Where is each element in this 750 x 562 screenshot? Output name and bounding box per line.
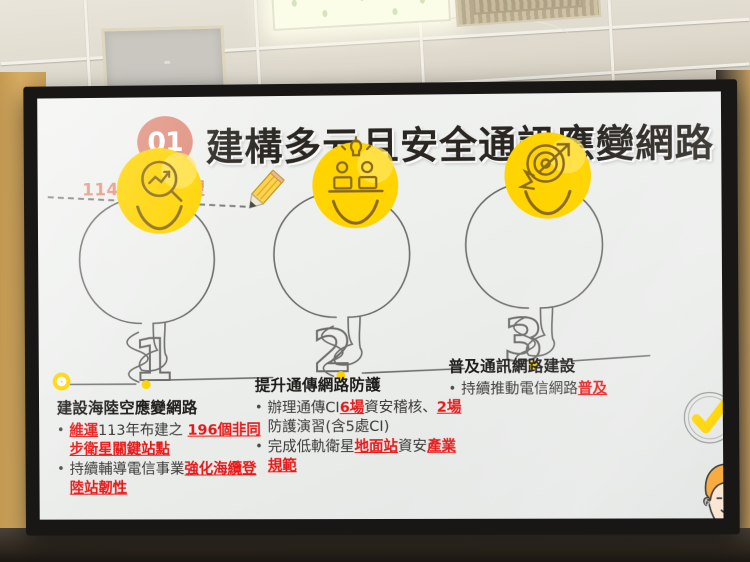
- step-heading-2: 提升通傳網路防護: [255, 373, 470, 396]
- bullet-text: 完成低軌衛星地面站資安產業規範: [268, 438, 470, 477]
- display-screen-bezel: 01 建構多元且安全通訊應變網路 114年施政展望: [23, 79, 740, 535]
- step-heading-3: 普及通訊網路建設: [448, 354, 665, 377]
- bullet-text: 維運113年布建之 196個非同步衛星關鍵站點: [69, 421, 270, 460]
- bulb-glow-1: [92, 128, 232, 269]
- bullet-dot: •: [449, 381, 457, 400]
- wall-speaker: [101, 25, 226, 90]
- bullet-text: 辦理通傳CI6場資安稽核、2場防護演習(含5處CI): [268, 399, 470, 438]
- bullet-dot: •: [57, 461, 65, 499]
- presentation-screen: 01 建構多元且安全通訊應變網路 114年施政展望: [37, 91, 723, 519]
- bullet-dot: •: [255, 439, 263, 477]
- bulb-glow-2: [287, 123, 428, 264]
- list-item: • 完成低軌衛星地面站資安產業規範: [255, 438, 470, 477]
- page-number: 6: [704, 497, 711, 508]
- step-column-1: 建設海陸空應變網路 • 維運113年布建之 196個非同步衛星關鍵站點 • 持續…: [57, 395, 271, 500]
- line-node-1: [142, 380, 151, 389]
- list-item: • 持續輔導電信事業強化海纜登陸站韌性: [57, 461, 270, 500]
- businessman-with-phone-illustration: [663, 452, 723, 520]
- step-bullets-2: • 辦理通傳CI6場資安稽核、2場防護演習(含5處CI) • 完成低軌衛星地面站…: [255, 399, 470, 477]
- step-bullets-3: • 持續推動電信網路普及: [449, 380, 666, 400]
- step-heading-1: 建設海陸空應變網路: [57, 395, 270, 418]
- step-number-1: 1: [133, 326, 173, 394]
- bullet-text: 持續推動電信網路普及: [461, 380, 607, 400]
- step-bullets-1: • 維運113年布建之 196個非同步衛星關鍵站點 • 持續輔導電信事業強化海纜…: [57, 421, 271, 499]
- ceiling-light-panel: [271, 0, 451, 31]
- check-circle-icon: [679, 387, 723, 448]
- slide: 01 建構多元且安全通訊應變網路 114年施政展望: [37, 91, 723, 519]
- bullet-dot: •: [57, 422, 65, 460]
- ceiling-grid-line: [83, 0, 92, 96]
- bullet-dot: •: [255, 400, 263, 438]
- list-item: • 維運113年布建之 196個非同步衛星關鍵站點: [57, 421, 270, 460]
- bulb-glow-3: [479, 113, 621, 255]
- list-item: • 辦理通傳CI6場資安稽核、2場防護演習(含5處CI): [255, 399, 470, 438]
- line-marker-start: [53, 373, 71, 391]
- step-column-2: 提升通傳網路防護 • 辦理通傳CI6場資安稽核、2場防護演習(含5處CI) • …: [255, 373, 470, 478]
- list-item: • 持續推動電信網路普及: [449, 380, 666, 400]
- step-column-3: 普及通訊網路建設 • 持續推動電信網路普及: [448, 354, 665, 401]
- bullet-text: 持續輔導電信事業強化海纜登陸站韌性: [70, 461, 271, 500]
